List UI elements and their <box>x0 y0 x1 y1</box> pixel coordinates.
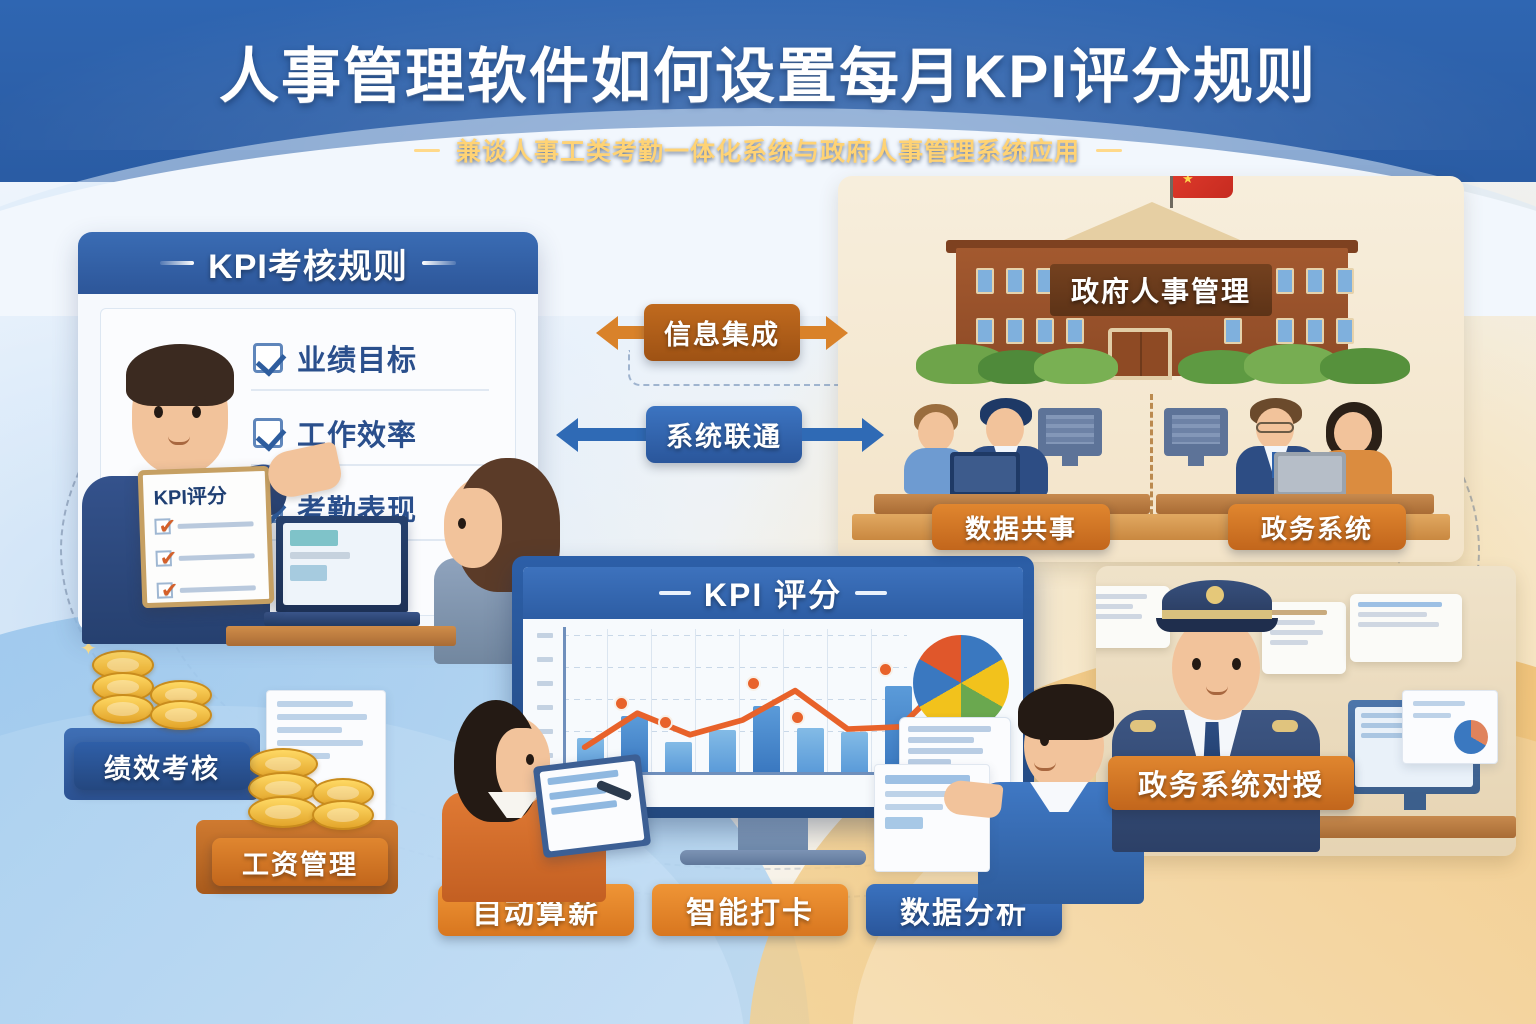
office-divider <box>1150 394 1153 524</box>
officer-cap-band <box>1162 610 1272 619</box>
bush-decor <box>1034 348 1118 384</box>
staff-head <box>986 408 1024 450</box>
arrow-shaft-right <box>802 428 862 441</box>
doc-line <box>885 817 923 829</box>
staff-head <box>918 412 954 452</box>
building-window <box>1006 318 1024 344</box>
dock-report-card <box>1402 690 1498 764</box>
infographic-canvas: 人事管理软件如何设置每月KPI评分规则 兼谈人事工类考勤一体化系统与政府人事管理… <box>0 0 1536 1024</box>
dashboard-title: KPI 评分 <box>704 570 842 616</box>
doc-line <box>1413 713 1451 718</box>
label-text: 绩效考核 <box>104 747 220 786</box>
subtitle-dash-right <box>1096 149 1122 152</box>
doc-line <box>277 727 342 733</box>
coin-icon <box>312 800 374 830</box>
building-window <box>1276 268 1294 294</box>
bubble-line <box>1358 602 1442 607</box>
officer-eye-left <box>1192 658 1201 670</box>
building-window <box>1006 268 1024 294</box>
clipboard-checkbox: ✔ <box>155 550 172 567</box>
tablet-line <box>551 800 617 815</box>
tablet-screen <box>539 760 644 851</box>
doc-line <box>277 714 367 720</box>
kpi-header-dash-left <box>160 261 194 265</box>
arrow-right-icon <box>826 316 848 350</box>
arrow-shaft-right <box>800 326 826 339</box>
connector-label: 系统联通 <box>646 406 802 463</box>
building-window <box>1336 318 1354 344</box>
building-window <box>1224 318 1242 344</box>
analyst-eye <box>1040 734 1049 746</box>
office-laptop <box>1274 452 1346 496</box>
building-sign-label: 政府人事管理 <box>1071 270 1251 310</box>
page-title: 人事管理软件如何设置每月KPI评分规则 <box>0 28 1536 115</box>
officer-eye-right <box>1232 658 1241 670</box>
check-icon: ✔ <box>160 578 178 604</box>
clipboard-text-line <box>178 521 254 529</box>
clipboard-row-2: ✔ <box>157 579 256 598</box>
label-smart-attendance[interactable]: 智能打卡 <box>652 884 848 936</box>
clipboard-text-line <box>180 585 256 593</box>
monitor-stand <box>738 818 808 852</box>
kpi-rules-header: KPI考核规则 <box>78 232 538 294</box>
doc-line <box>277 701 353 707</box>
coin-icon <box>248 796 318 828</box>
office-monitor-stand <box>1188 456 1204 466</box>
building-window <box>1306 268 1324 294</box>
tablet-worker-eye <box>526 754 534 765</box>
check-icon: ✔ <box>158 514 176 540</box>
tablet-device <box>533 754 651 858</box>
label-gov-system[interactable]: 政务系统 <box>1228 504 1406 550</box>
page-subtitle: 兼谈人事工类考勤一体化系统与政府人事管理系统应用 <box>456 132 1080 168</box>
office-laptop-screen <box>1278 456 1342 492</box>
laptop-screen-tab <box>290 530 338 546</box>
office-laptop <box>950 452 1020 496</box>
presenter-brow-right <box>188 396 206 400</box>
officer-epaulet-left <box>1130 720 1156 732</box>
label-text: 政务系统 <box>1261 509 1373 546</box>
monitor-base <box>680 850 866 865</box>
building-window <box>1036 318 1054 344</box>
officer-cap-brim <box>1156 618 1278 632</box>
label-text: 政务系统对授 <box>1138 762 1324 804</box>
kpi-divider-0 <box>251 389 489 391</box>
speech-bubble <box>1350 594 1462 662</box>
label-data-sharing[interactable]: 数据共事 <box>932 504 1110 550</box>
connector-info-integration[interactable]: 信息集成 <box>596 304 848 361</box>
kpi-rules-title: KPI考核规则 <box>208 239 408 288</box>
arrow-shaft-left <box>618 326 644 339</box>
office-monitor <box>1164 408 1228 456</box>
building-window <box>976 268 994 294</box>
connector-label: 信息集成 <box>644 304 800 361</box>
chart-line-point <box>746 676 761 691</box>
clipboard-row-1: ✔ <box>155 547 254 566</box>
office-monitor-stand <box>1062 456 1078 466</box>
clipboard-row-0: ✔ <box>154 515 253 534</box>
staff-glasses <box>1256 422 1294 433</box>
dashboard-dash-left <box>659 591 691 595</box>
laptop-worker-eye <box>458 518 466 529</box>
dock-monitor-stand <box>1404 792 1426 810</box>
page-subtitle-row: 兼谈人事工类考勤一体化系统与政府人事管理系统应用 <box>0 132 1536 168</box>
label-payroll-management[interactable]: 工资管理 <box>212 838 388 886</box>
chart-line-point <box>790 710 805 725</box>
arrow-left-icon <box>596 316 618 350</box>
subtitle-dash-left <box>414 149 440 152</box>
desk-left <box>226 626 456 646</box>
coin-icon <box>150 700 212 730</box>
laptop-screen-block <box>290 565 327 581</box>
clipboard-checkbox: ✔ <box>154 518 171 535</box>
label-gov-system-docking[interactable]: 政务系统对授 <box>1108 756 1354 810</box>
arrow-left-icon <box>556 418 578 452</box>
presenter-eye-right <box>192 406 201 418</box>
page-title-wrap: 人事管理软件如何设置每月KPI评分规则 <box>0 28 1536 115</box>
building-window <box>1336 268 1354 294</box>
dock-mini-pie <box>1454 720 1488 754</box>
building-window <box>1306 318 1324 344</box>
clipboard-text-line <box>179 553 255 561</box>
building-window <box>1066 318 1084 344</box>
label-text: 智能打卡 <box>686 888 814 932</box>
analyst-hair <box>1018 684 1114 740</box>
label-text: 数据共事 <box>965 509 1077 546</box>
analyst-report-card <box>874 764 990 872</box>
clipboard-title: KPI评分 <box>153 479 227 511</box>
presenter-eye-left <box>154 406 163 418</box>
officer-epaulet-right <box>1272 720 1298 732</box>
presenter-hair <box>126 344 234 406</box>
chart-line-point <box>878 662 893 677</box>
laptop-base <box>264 612 420 626</box>
arrow-shaft-left <box>578 428 646 441</box>
coin-icon <box>92 694 154 724</box>
laptop-screen <box>283 523 401 605</box>
staff-head <box>1334 412 1372 454</box>
doc-line <box>1413 701 1465 706</box>
presenter-brow-left <box>150 396 168 400</box>
office-laptop-screen <box>954 456 1016 492</box>
arrow-right-icon <box>862 418 884 452</box>
doc-line <box>277 740 363 746</box>
building-window <box>1276 318 1294 344</box>
building-sign: 政府人事管理 <box>1050 264 1272 316</box>
clipboard-checkbox: ✔ <box>157 582 174 599</box>
label-text: 工资管理 <box>242 843 358 882</box>
dashboard-dash-right <box>855 591 887 595</box>
laptop-screen-line <box>290 552 350 559</box>
chart-line-point <box>658 715 673 730</box>
label-performance-review[interactable]: 绩效考核 <box>74 742 250 790</box>
building-door <box>1108 328 1172 380</box>
building-window <box>976 318 994 344</box>
doc-line <box>885 804 943 810</box>
kpi-header-dash-right <box>422 261 456 265</box>
kpi-score-clipboard: KPI评分 ✔ ✔ ✔ <box>138 466 275 609</box>
flag-star-icon: ★ <box>1182 176 1194 187</box>
dashboard-title-bar: KPI 评分 <box>523 567 1023 619</box>
kpi-item-label: 业绩目标 <box>297 337 417 379</box>
connector-system-link[interactable]: 系统联通 <box>556 406 884 463</box>
laptop-device <box>276 516 408 612</box>
bubble-line <box>1358 612 1427 617</box>
bubble-line <box>1358 622 1439 627</box>
check-icon: ✔ <box>159 546 177 572</box>
officer-cap-badge <box>1206 586 1224 604</box>
bush-decor <box>1320 348 1410 384</box>
laptop-worker-face <box>444 488 502 568</box>
